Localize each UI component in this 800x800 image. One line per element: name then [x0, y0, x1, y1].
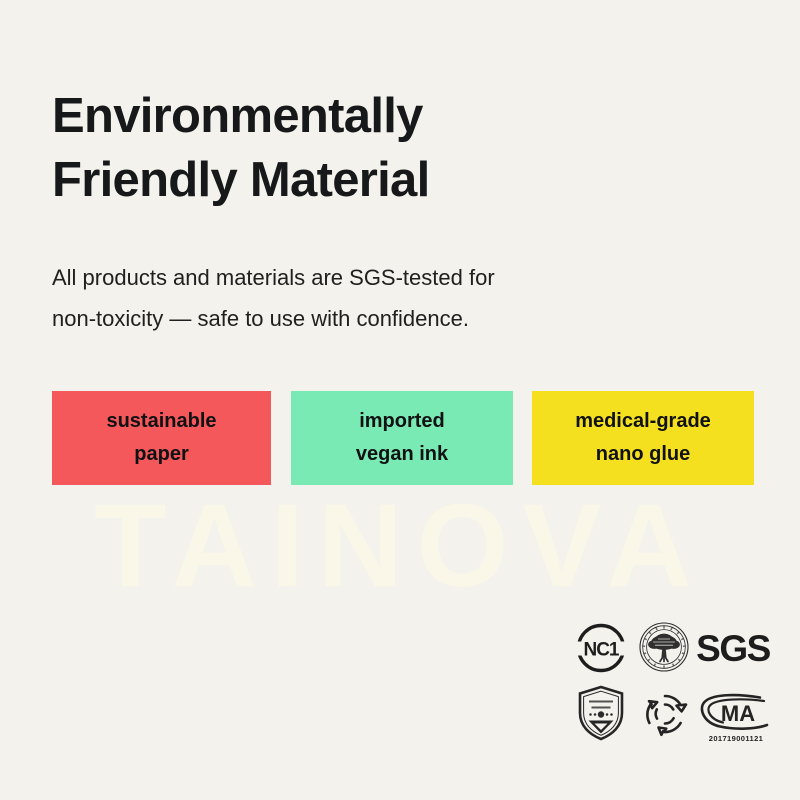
page-subtitle-line-2: non-toxicity — safe to use with confiden… — [52, 299, 692, 340]
material-chip-label-line-2: nano glue — [596, 438, 690, 471]
page-title: Environmentally Friendly Material — [52, 85, 752, 212]
fsc-tree-seal-icon — [634, 620, 694, 674]
material-chip-group: sustainable paper imported vegan ink med… — [52, 391, 754, 487]
sgs-certification-icon: SGS — [696, 622, 770, 674]
material-chip-label-line-1: medical-grade — [575, 405, 711, 438]
brand-watermark: TAINOVA — [0, 487, 800, 605]
certification-badge-group: NC1 — [572, 618, 772, 742]
svg-text:MA: MA — [721, 701, 755, 726]
sgs-wordmark-label: SGS — [696, 630, 770, 667]
material-chip-label-line-2: vegan ink — [356, 438, 448, 471]
material-chip-sustainable-paper: sustainable paper — [52, 391, 271, 485]
cma-certification-code: 201719001121 — [709, 735, 763, 743]
page-subtitle: All products and materials are SGS-teste… — [52, 258, 692, 339]
recycling-symbol-icon — [634, 686, 696, 742]
nc1-certification-icon: NC1 — [572, 622, 630, 674]
material-chip-imported-vegan-ink: imported vegan ink — [291, 391, 513, 485]
svg-text:NC1: NC1 — [583, 640, 619, 661]
certification-badge-row-top: NC1 — [572, 618, 772, 674]
material-chip-label-line-1: imported — [359, 405, 445, 438]
page-title-line-2: Friendly Material — [52, 149, 752, 213]
certification-badge-row-bottom: MA 201719001121 — [572, 680, 772, 742]
cma-certification-icon: MA 201719001121 — [698, 682, 774, 742]
material-chip-medical-grade-nano-glue: medical-grade nano glue — [532, 391, 754, 485]
poster-canvas: TAINOVA Environmentally Friendly Materia… — [0, 0, 800, 800]
page-subtitle-line-1: All products and materials are SGS-teste… — [52, 258, 692, 299]
page-title-line-1: Environmentally — [52, 85, 752, 149]
material-chip-label-line-2: paper — [134, 438, 188, 471]
shield-certification-icon — [572, 684, 630, 742]
material-chip-label-line-1: sustainable — [106, 405, 216, 438]
